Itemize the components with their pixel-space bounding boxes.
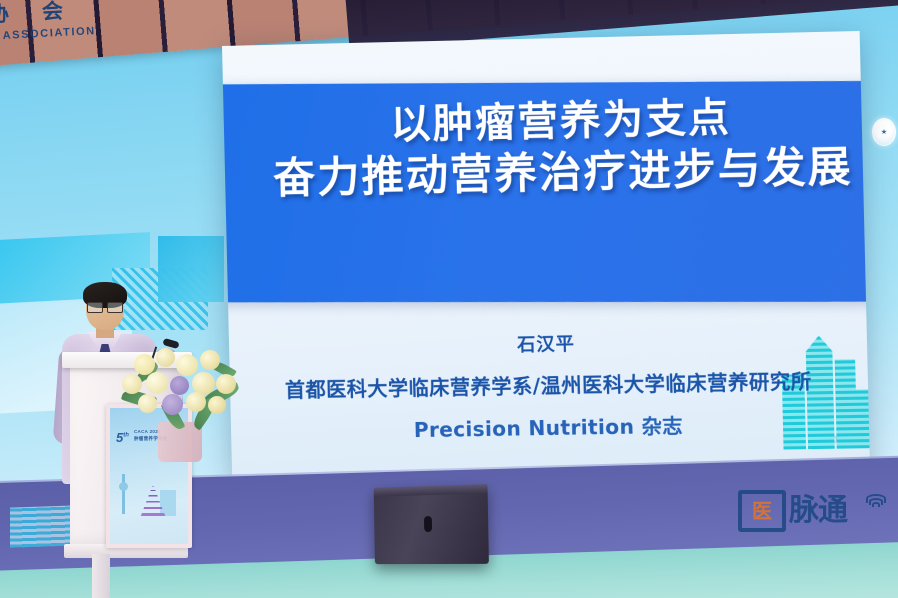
watermark-logo: 医 脉通 (738, 484, 886, 538)
journal-name: Precision Nutrition 杂志 (413, 410, 683, 443)
watermark-box-icon: 医 (738, 490, 786, 532)
slide-author-block: 石汉平 首都医科大学临床营养学系/温州医科大学临床营养研究所 Precision… (228, 302, 870, 480)
speaker-name: 石汉平 (517, 330, 575, 357)
wifi-signal-icon (867, 494, 883, 508)
watermark-brand-text: 脉通 (789, 496, 847, 526)
tower-graphic (122, 474, 125, 514)
slide-title-line-1: 以肿瘤营养为支点 (390, 98, 731, 146)
wall-emblem-icon: ★ (872, 118, 896, 146)
watermark-mark-letter: 医 (752, 501, 772, 521)
slide-page-number: 1 (833, 434, 838, 444)
projection-screen: 以肿瘤营养为支点 奋力推动营养治疗进步与发展 石汉平 首都医科大学临床营养学系/… (222, 31, 870, 480)
conference-photo: 协 会 R ASSOCIATION ★ 以肿瘤营养为支点 奋力推动营养治疗进步与… (0, 0, 898, 598)
lectern-stem (92, 554, 110, 598)
flower-arrangement (118, 348, 246, 458)
monitor-handle (424, 516, 432, 532)
stage-monitor-speaker (374, 484, 489, 564)
speaker-affiliation: 首都医科大学临床营养学系/温州医科大学临床营养研究所 (285, 365, 812, 403)
glasses-icon (87, 302, 123, 311)
slide-title-text-group: 以肿瘤营养为支点 奋力推动营养治疗进步与发展 (236, 31, 870, 264)
slide-title-line-2: 奋力推动营养治疗进步与发展 (273, 146, 853, 200)
